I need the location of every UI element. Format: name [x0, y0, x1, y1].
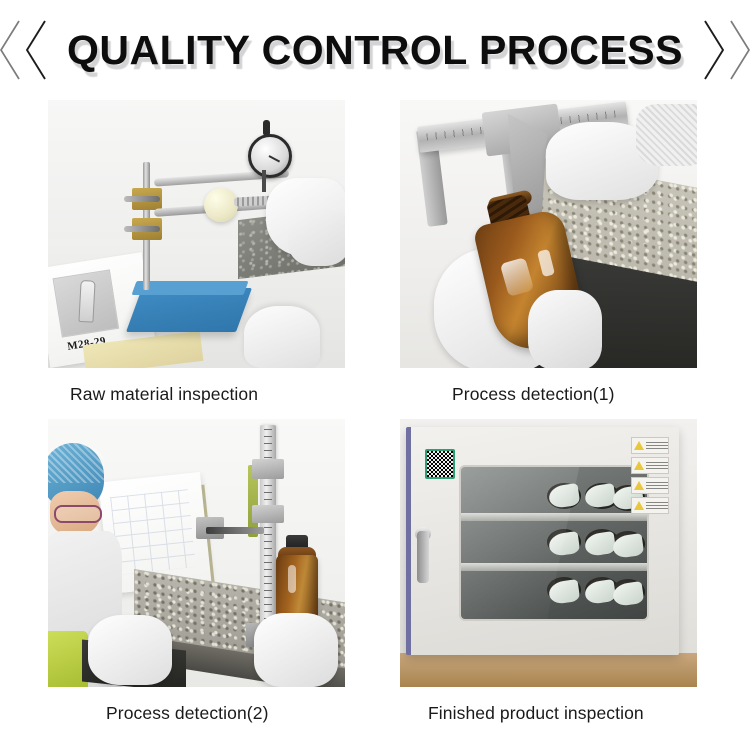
warning-triangle-icon — [634, 461, 644, 470]
gloved-hand-left — [88, 615, 172, 685]
warning-label-group — [631, 437, 669, 517]
photo-process-detection-1 — [400, 100, 697, 368]
photo-process-detection-2 — [48, 419, 345, 687]
caption-process-detection-1: Process detection(1) — [400, 368, 697, 405]
gloved-fingers-lower — [528, 290, 602, 368]
process-steps-grid: M28-29 — [0, 100, 750, 724]
warning-label — [631, 437, 669, 454]
chevron-left-group — [0, 19, 49, 81]
qr-code-sticker — [425, 449, 455, 479]
caption-finished-product-inspection: Finished product inspection — [400, 687, 697, 724]
warning-triangle-icon — [634, 441, 644, 450]
knit-sleeve-cuff — [636, 104, 697, 166]
photo-finished-product-inspection — [400, 419, 697, 687]
qr-code-pattern — [427, 451, 453, 477]
warning-label-text — [646, 482, 668, 489]
oven-glass-window — [459, 465, 649, 621]
chevron-left-icon — [0, 19, 23, 81]
operator-hairnet-mesh — [48, 443, 104, 483]
caption-raw-material-inspection: Raw material inspection — [48, 368, 345, 405]
process-step-process-detection-2: Process detection(2) — [48, 419, 345, 724]
chevron-right-icon — [701, 19, 727, 81]
height-gauge-slider-upper — [252, 459, 284, 479]
warning-triangle-icon — [634, 501, 644, 510]
chevron-right-group — [701, 19, 750, 81]
gloved-fingers-right — [288, 210, 345, 266]
warning-label-text — [646, 502, 668, 509]
technical-drawing-lines — [110, 489, 196, 575]
scriber-arm — [206, 527, 264, 534]
height-gauge-slider-lower — [252, 505, 284, 523]
page-title-wrap: QUALITY CONTROL PROCESS — [53, 27, 697, 74]
warning-label — [631, 457, 669, 474]
clamp-knob-upper — [124, 196, 160, 202]
chevron-left-icon — [23, 19, 49, 81]
oven-door-handle[interactable] — [417, 531, 429, 583]
page-title: QUALITY CONTROL PROCESS — [67, 27, 683, 73]
warning-triangle-icon — [634, 481, 644, 490]
warning-label — [631, 477, 669, 494]
dial-gauge-probe — [262, 170, 266, 192]
warning-label — [631, 497, 669, 514]
process-step-raw-material-inspection: M28-29 — [48, 100, 345, 405]
gloved-hand-right — [254, 613, 338, 687]
process-step-process-detection-1: Process detection(1) — [400, 100, 697, 405]
dial-gauge-icon — [248, 134, 292, 178]
photo-raw-material-inspection: M28-29 — [48, 100, 345, 368]
process-steps-row-top: M28-29 — [0, 100, 750, 405]
white-plastic-specimen — [204, 188, 238, 222]
chevron-right-icon — [727, 19, 750, 81]
drying-oven-cabinet — [406, 427, 679, 655]
clamp-knob-lower — [124, 226, 160, 232]
quality-control-process-page: QUALITY CONTROL PROCESS — [0, 0, 750, 750]
vial-drawing — [78, 280, 95, 323]
process-step-finished-product-inspection: Finished product inspection — [400, 419, 697, 724]
wood-floor — [400, 653, 697, 687]
bottle-highlight — [288, 565, 296, 593]
process-steps-row-bottom: Process detection(2) — [0, 419, 750, 724]
page-header: QUALITY CONTROL PROCESS — [0, 0, 750, 100]
caption-process-detection-2: Process detection(2) — [48, 687, 345, 724]
warning-label-text — [646, 442, 668, 449]
warning-label-text — [646, 462, 668, 469]
operator-glasses — [54, 505, 102, 523]
spec-sheet-image — [53, 269, 120, 337]
gloved-hand-lower — [244, 306, 320, 368]
